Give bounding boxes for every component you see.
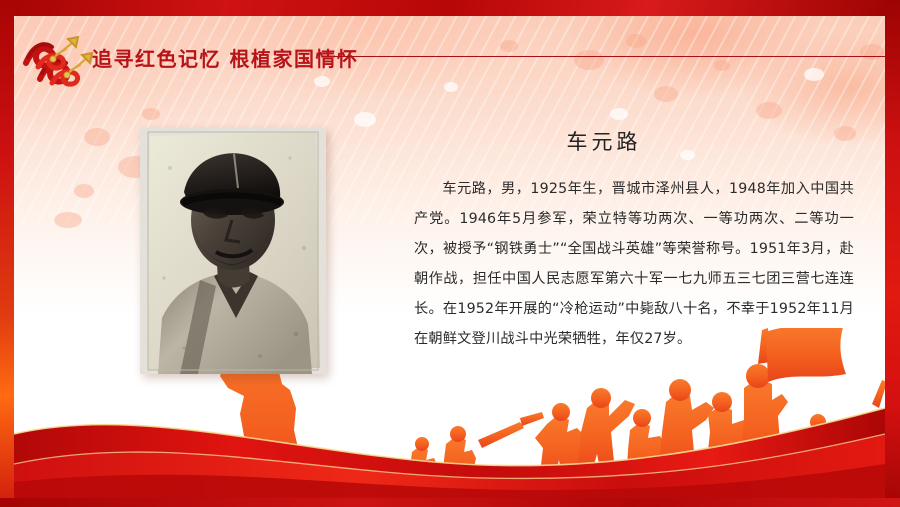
frame-band-top [0, 0, 900, 16]
header-emblem-icon [22, 33, 88, 77]
header-divider-rule [334, 56, 885, 57]
frame-band-bottom [0, 498, 900, 507]
slide-page: 车元路 车元路，男，1925年生，晋城市泽州县人，1948年加入中国共产党。19… [14, 16, 885, 498]
biography-block: 车元路 车元路，男，1925年生，晋城市泽州县人，1948年加入中国共产党。19… [414, 126, 854, 354]
header-title: 追寻红色记忆 根植家国情怀 [92, 43, 358, 72]
red-ribbon-wave [14, 378, 885, 498]
frame-band-right [885, 0, 900, 507]
slide-canvas: 车元路 车元路，男，1925年生，晋城市泽州县人，1948年加入中国共产党。19… [0, 0, 900, 507]
biography-text: 车元路，男，1925年生，晋城市泽州县人，1948年加入中国共产党。1946年5… [414, 174, 854, 354]
frame-band-left [0, 0, 14, 507]
person-name-title: 车元路 [414, 126, 854, 156]
soldier-portrait-image [140, 128, 326, 374]
portrait-photo [140, 128, 326, 374]
